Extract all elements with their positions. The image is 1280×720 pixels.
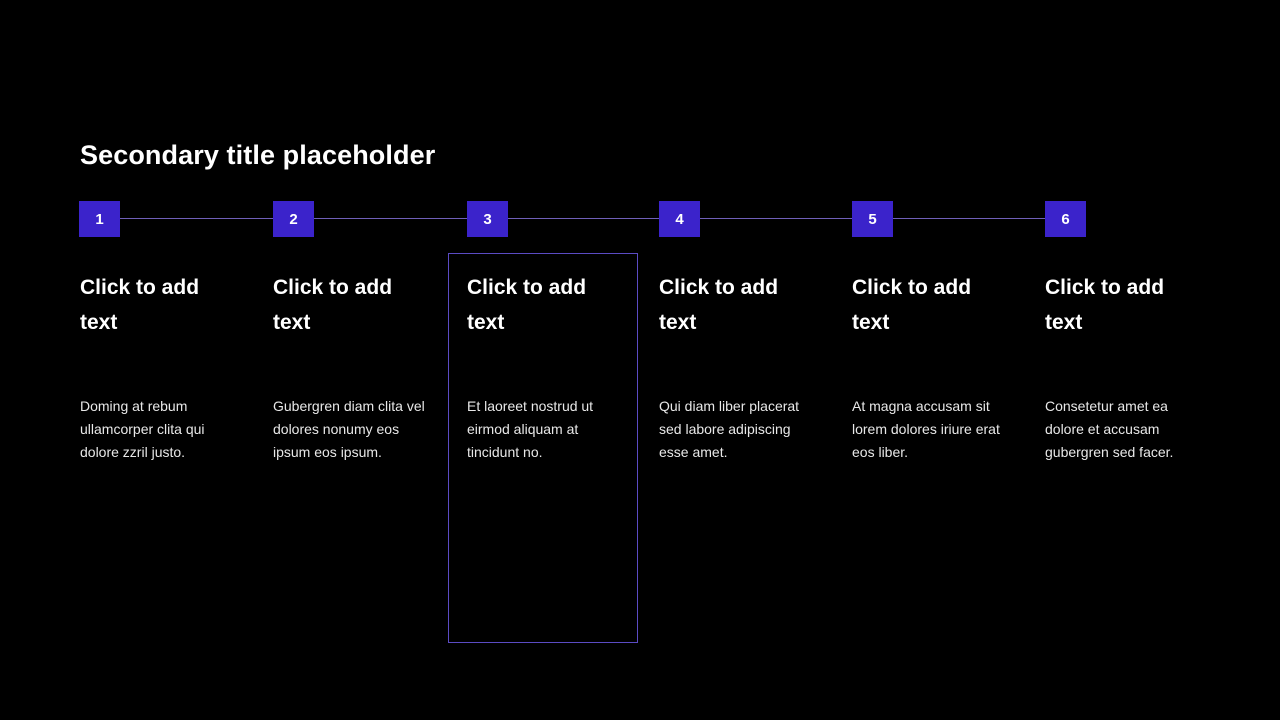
page-title[interactable]: Secondary title placeholder xyxy=(80,138,435,172)
timeline-step-number-3: 3 xyxy=(483,211,491,228)
timeline-step-number-6: 6 xyxy=(1061,211,1069,228)
column-heading-4[interactable]: Click to add text xyxy=(659,270,819,340)
timeline-step-badge-2[interactable]: 2 xyxy=(273,201,314,237)
column-body-2[interactable]: Gubergren diam clita vel dolores nonumy … xyxy=(273,395,435,464)
column-body-4[interactable]: Qui diam liber placerat sed labore adipi… xyxy=(659,395,821,464)
timeline-step-number-2: 2 xyxy=(289,211,297,228)
timeline-connector-2-3 xyxy=(314,218,467,219)
timeline-graphic: 1 2 3 4 5 6 xyxy=(0,0,1280,720)
timeline-step-badge-5[interactable]: 5 xyxy=(852,201,893,237)
column-body-1[interactable]: Doming at rebum ullamcorper clita qui do… xyxy=(80,395,242,464)
timeline-step-number-4: 4 xyxy=(675,211,683,228)
column-heading-1[interactable]: Click to add text xyxy=(80,270,240,340)
column-body-6[interactable]: Consetetur amet ea dolore et accusam gub… xyxy=(1045,395,1207,464)
column-heading-6[interactable]: Click to add text xyxy=(1045,270,1205,340)
timeline-step-badge-4[interactable]: 4 xyxy=(659,201,700,237)
timeline-step-badge-1[interactable]: 1 xyxy=(79,201,120,237)
column-heading-5[interactable]: Click to add text xyxy=(852,270,1012,340)
slide-canvas: Secondary title placeholder 1 2 3 4 5 6 … xyxy=(0,0,1280,720)
timeline-step-number-5: 5 xyxy=(868,211,876,228)
timeline-step-badge-6[interactable]: 6 xyxy=(1045,201,1086,237)
timeline-step-number-1: 1 xyxy=(95,211,103,228)
timeline-connector-4-5 xyxy=(700,218,852,219)
timeline-step-badge-3[interactable]: 3 xyxy=(467,201,508,237)
column-body-5[interactable]: At magna accusam sit lorem dolores iriur… xyxy=(852,395,1014,464)
timeline-connector-3-4 xyxy=(508,218,659,219)
selection-outline-column-3[interactable] xyxy=(448,253,638,643)
column-heading-2[interactable]: Click to add text xyxy=(273,270,433,340)
timeline-connector-1-2 xyxy=(120,218,273,219)
timeline-connector-5-6 xyxy=(893,218,1045,219)
